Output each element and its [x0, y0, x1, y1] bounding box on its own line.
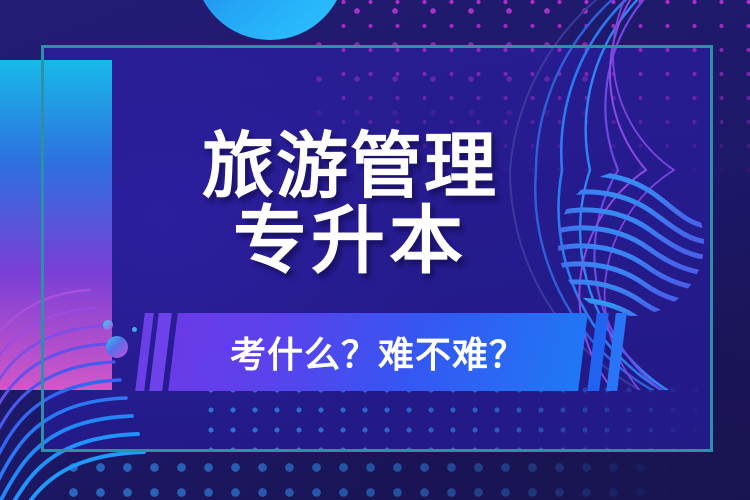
decorative-circle-medium	[106, 336, 128, 358]
banner-accent-bar-right-outer	[606, 313, 627, 391]
page-title: 旅游管理 专升本	[0, 128, 700, 280]
title-line-primary: 旅游管理	[0, 128, 700, 206]
banner-accent-bar-right-inner	[587, 313, 609, 391]
decorative-circle-small	[103, 320, 113, 330]
decorative-circle-tiny	[132, 327, 137, 332]
title-line-secondary: 专升本	[0, 202, 700, 280]
poster-canvas: 旅游管理 专升本 考什么？难不难？	[0, 0, 750, 500]
subtitle-banner: 考什么？难不难？	[140, 313, 630, 391]
banner-accent-bar-left-inner	[149, 313, 172, 391]
banner-label: 考什么？难不难？	[173, 313, 583, 391]
